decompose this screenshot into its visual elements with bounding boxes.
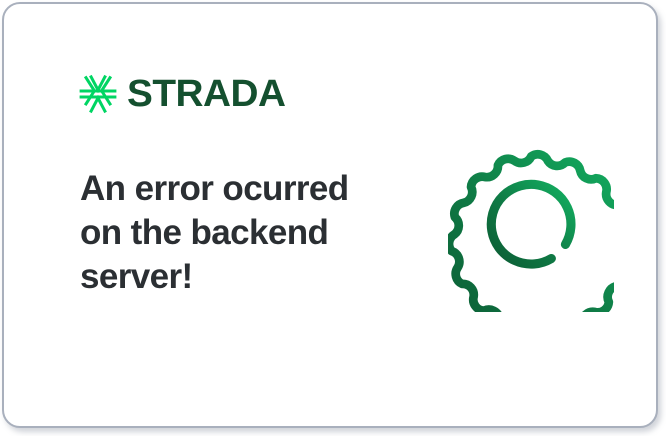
brand-wordmark: STRADA [127, 75, 285, 113]
brand-lockup: STRADA [78, 74, 282, 114]
error-card: STRADA An error ocurred on the backend s… [2, 2, 658, 428]
strada-asterisk-icon [78, 74, 118, 114]
error-message-text: An error ocurred on the backend server! [80, 167, 370, 299]
gear-outline-icon [448, 137, 614, 312]
